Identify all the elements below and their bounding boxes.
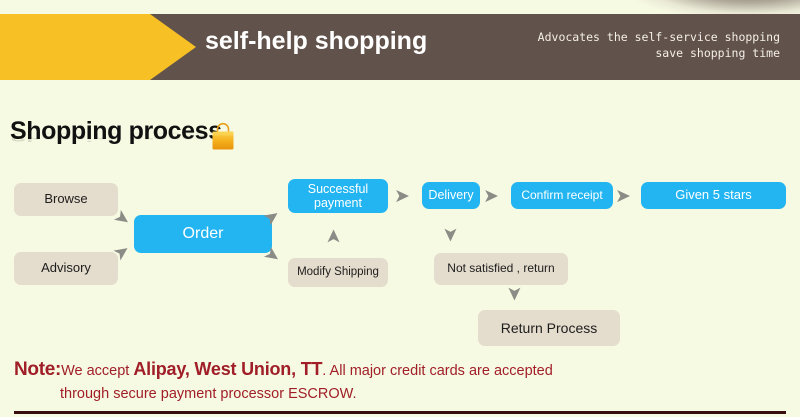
payment-note: Note:We accept Alipay, West Union, TT. A…	[14, 358, 784, 406]
flow-arrow-payment-to-delivery: ➤	[394, 187, 410, 206]
header-tagline-line-1: Advocates the self-service shopping	[480, 29, 780, 45]
page-title: self-help shopping	[205, 27, 427, 56]
flow-node-given-5-stars[interactable]: Given 5 stars	[641, 182, 786, 209]
note-payment-methods: Alipay, West Union, TT	[133, 359, 322, 379]
shopping-process-flowchart: BrowseAdvisoryOrderSuccessful paymentMod…	[0, 170, 800, 355]
section-title: Shopping process	[10, 116, 222, 146]
flow-arrow-confirm-to-stars: ➤	[615, 187, 631, 206]
flow-node-label: Delivery	[428, 188, 473, 202]
flow-node-label: Order	[183, 225, 224, 243]
flow-arrow-delivery-to-confirm: ➤	[483, 187, 499, 206]
flow-node-label: Advisory	[41, 261, 91, 276]
flow-node-label: Given 5 stars	[675, 188, 752, 203]
flow-node-order[interactable]: Order	[134, 215, 272, 253]
shopping-bag-icon	[208, 121, 238, 151]
flow-node-return-process[interactable]: Return Process	[478, 310, 620, 346]
flow-arrow-delivery-to-not-satisfied: ➤	[440, 227, 459, 243]
flow-node-label: Successful payment	[288, 182, 388, 211]
header-banner: self-help shopping Advocates the self-se…	[0, 0, 800, 95]
flow-node-label: Confirm receipt	[521, 189, 602, 203]
flow-node-not-satisfied[interactable]: Not satisfied , return	[434, 253, 568, 285]
flow-node-label: Browse	[44, 192, 87, 207]
section-title-block: Shopping process Shopping process	[10, 116, 222, 162]
flow-node-successful-payment[interactable]: Successful payment	[288, 179, 388, 213]
flow-node-label: Not satisfied , return	[447, 262, 554, 276]
flow-node-confirm-receipt[interactable]: Confirm receipt	[511, 182, 613, 209]
flow-node-advisory[interactable]: Advisory	[14, 252, 118, 285]
flow-node-label: Return Process	[501, 320, 597, 336]
header-tagline-line-2: save shopping time	[480, 45, 780, 61]
flow-arrow-modify-to-payment: ➤	[324, 229, 343, 245]
note-text-before: We accept	[61, 363, 133, 379]
header-tagline: Advocates the self-service shopping save…	[480, 29, 780, 61]
note-text-after: . All major credit cards are accepted	[322, 363, 553, 379]
flow-arrow-not-satisfied-to-return: ➤	[504, 286, 523, 302]
flow-node-browse[interactable]: Browse	[14, 183, 118, 216]
flow-node-label: Modify Shipping	[297, 266, 379, 279]
footer-divider	[14, 411, 786, 414]
flow-node-delivery[interactable]: Delivery	[422, 182, 480, 209]
flow-node-modify-shipping[interactable]: Modify Shipping	[288, 258, 388, 287]
note-label: Note:	[14, 359, 61, 380]
note-line-2: through secure payment processor ESCROW.	[14, 383, 784, 406]
